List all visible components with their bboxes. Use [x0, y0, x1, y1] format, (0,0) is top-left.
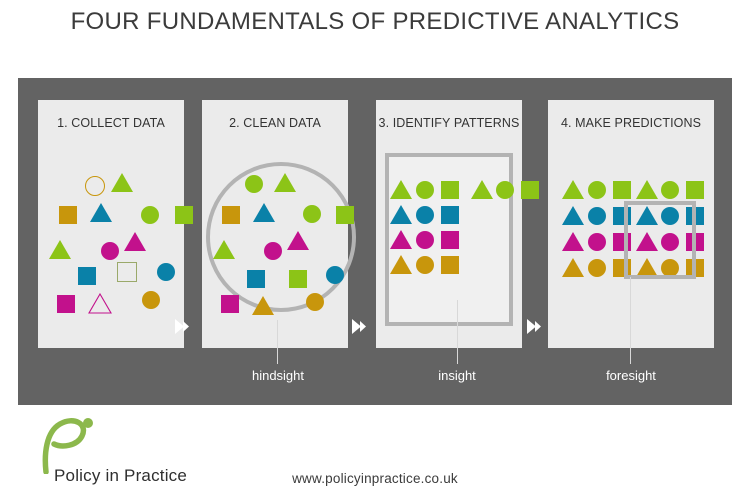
shape-circle-gold	[142, 291, 160, 309]
shape-square-green-2	[289, 270, 307, 288]
grid-square-green-2	[521, 181, 539, 199]
pred-triangle-gold-1	[562, 258, 584, 277]
panel-make-predictions: 4. MAKE PREDICTIONS	[548, 100, 714, 348]
website-url: www.policyinpractice.co.uk	[0, 471, 750, 486]
shape-triangle-green-2	[49, 240, 71, 259]
grid-square-gold	[441, 256, 459, 274]
panel-clean-data: 2. CLEAN DATA	[202, 100, 348, 348]
arrow-patterns-to-predictions	[527, 318, 543, 335]
pred-triangle-magenta-1	[562, 232, 584, 251]
pred-square-green-2	[686, 181, 704, 199]
panel-identify-patterns: 3. IDENTIFY PATTERNS	[376, 100, 522, 348]
shape-square-gold	[59, 206, 77, 224]
grid-circle-teal	[416, 206, 434, 224]
panel-1-title: 1. COLLECT DATA	[38, 116, 184, 130]
shape-square-gold	[222, 206, 240, 224]
pred-square-green-1	[613, 181, 631, 199]
grid-circle-magenta	[416, 231, 434, 249]
shape-square-green	[175, 206, 193, 224]
shape-square-outline-green	[117, 262, 137, 282]
prediction-highlight-frame	[624, 201, 696, 279]
shape-triangle-green	[111, 173, 133, 192]
shape-square-green	[336, 206, 354, 224]
grid-triangle-green-1	[390, 180, 412, 199]
shape-triangle-outline-magenta	[88, 293, 112, 314]
grid-triangle-magenta	[390, 230, 412, 249]
grid-square-green-1	[441, 181, 459, 199]
shape-circle-teal	[157, 263, 175, 281]
leader-line-foresight	[630, 277, 631, 364]
shape-triangle-magenta	[287, 231, 309, 250]
shape-triangle-teal	[253, 203, 275, 222]
leader-line-insight	[457, 300, 458, 364]
shape-triangle-green-2	[213, 240, 235, 259]
pred-circle-green-2	[661, 181, 679, 199]
shape-triangle-teal	[90, 203, 112, 222]
shape-circle-magenta	[101, 242, 119, 260]
shape-circle-green-2	[303, 205, 321, 223]
grid-circle-gold	[416, 256, 434, 274]
pred-triangle-teal-1	[562, 206, 584, 225]
pred-circle-teal-1	[588, 207, 606, 225]
panel-4-title: 4. MAKE PREDICTIONS	[548, 116, 714, 130]
shape-circle-outline-gold	[85, 176, 105, 196]
pred-circle-gold-1	[588, 259, 606, 277]
shape-square-teal	[78, 267, 96, 285]
panel-3-title: 3. IDENTIFY PATTERNS	[376, 116, 522, 130]
grid-circle-green-1	[416, 181, 434, 199]
caption-foresight: foresight	[592, 368, 670, 383]
panel-collect-data: 1. COLLECT DATA	[38, 100, 184, 348]
shape-circle-gold	[306, 293, 324, 311]
shape-square-teal	[247, 270, 265, 288]
caption-insight: insight	[422, 368, 492, 383]
shape-circle-magenta	[264, 242, 282, 260]
grid-triangle-gold	[390, 255, 412, 274]
grid-triangle-green-2	[471, 180, 493, 199]
page-title: FOUR FUNDAMENTALS OF PREDICTIVE ANALYTIC…	[0, 8, 750, 36]
panel-2-title: 2. CLEAN DATA	[202, 116, 348, 130]
pred-circle-magenta-1	[588, 233, 606, 251]
pred-circle-green-1	[588, 181, 606, 199]
grid-square-teal	[441, 206, 459, 224]
grid-triangle-teal	[390, 205, 412, 224]
shape-circle-green	[141, 206, 159, 224]
shape-circle-teal	[326, 266, 344, 284]
arrow-clean-to-patterns	[352, 318, 368, 335]
pred-triangle-green-2	[636, 180, 658, 199]
arrow-collect-to-clean	[175, 318, 191, 335]
shape-square-magenta	[57, 295, 75, 313]
leader-line-hindsight	[277, 320, 278, 364]
shape-square-magenta	[221, 295, 239, 313]
grid-circle-green-2	[496, 181, 514, 199]
shape-circle-green	[245, 175, 263, 193]
shape-triangle-gold	[252, 296, 274, 315]
shape-triangle-magenta	[124, 232, 146, 251]
caption-hindsight: hindsight	[237, 368, 319, 383]
shape-triangle-green	[274, 173, 296, 192]
grid-square-magenta	[441, 231, 459, 249]
pred-triangle-green-1	[562, 180, 584, 199]
